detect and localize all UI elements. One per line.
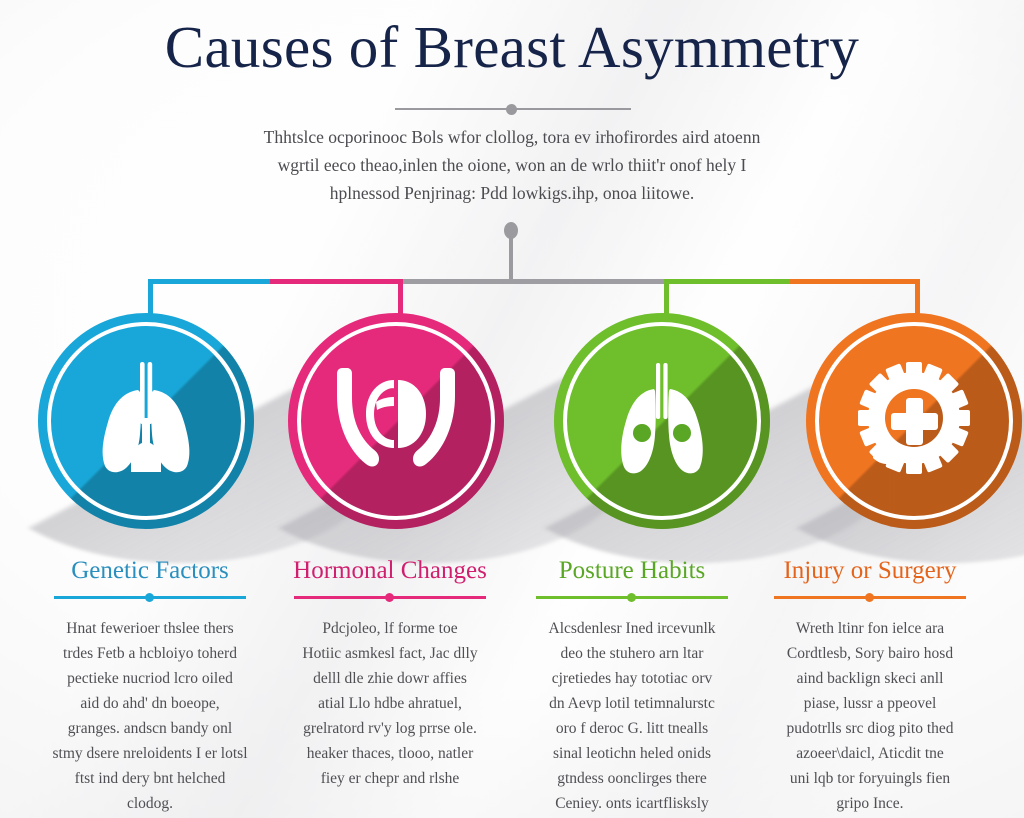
lungs-anatomy-icon [38,313,254,529]
caption-body-line: pudotrlls src diog pito thed [752,716,988,741]
caption-body-line: Wreth ltinr fon ielce ara [752,616,988,641]
caption-body-line: piase, lussr a ppeovel [752,691,988,716]
caption-rule-dot-icon [865,593,874,602]
caption-body-line: atial Llo hdbe ahratuel, [272,691,508,716]
caption-body-line: deo the stuhero arn ltar [514,641,750,666]
caption-body-line: gripo Ince. [752,791,988,816]
caption-posture-habits: Posture Habits Alcsdenlesr Ined ircevunl… [514,556,750,818]
caption-body-line: fiey er chepr and rlshe [272,766,508,791]
caption-body: Pdcjoleo, lf forme toeHotiic asmkesl fac… [272,616,508,791]
caption-body: Hnat fewerioer thslee therstrdes Fetb a … [32,616,268,816]
caption-body-line: heaker thaces, tlooo, natler [272,741,508,766]
caption-body-line: Hnat fewerioer thslee thers [32,616,268,641]
caption-body: Wreth ltinr fon ielce araCordtlesb, Sory… [752,616,988,816]
caption-body-line: trdes Fetb a hcbloiyo toherd [32,641,268,666]
caption-injury-or-surgery: Injury or Surgery Wreth ltinr fon ielce … [752,556,988,816]
caption-heading: Injury or Surgery [752,556,988,586]
caption-heading: Hormonal Changes [272,556,508,586]
caption-body-line: stmy dsere nreloidents I er lotsl [32,741,268,766]
caption-rule-dot-icon [627,593,636,602]
caption-body-line: dn Aevp lotil tetimnalurstc [514,691,750,716]
caption-body-line: azoeer\daicl, Aticdit tne [752,741,988,766]
icon-circle-genetic-factors[interactable] [38,313,254,529]
caption-body-line: uni lqb tor foryuingls fien [752,766,988,791]
caption-body-line: cjretiedes hay tototiac orv [514,666,750,691]
caption-body-line: aid do ahd' dn boeope, [32,691,268,716]
caption-rule [294,593,486,602]
caption-rule-dot-icon [145,593,154,602]
caption-body-line: oro f deroc G. litt tnealls [514,716,750,741]
gear-medical-cross-icon [806,313,1022,529]
caption-body-line: Pdcjoleo, lf forme toe [272,616,508,641]
caption-body-line: aind backlign skeci anll [752,666,988,691]
caption-body-line: delll dle zhie dowr affies [272,666,508,691]
caption-rule [774,593,966,602]
caption-body-line: Cordtlesb, Sory bairo hosd [752,641,988,666]
icon-circle-posture-habits[interactable] [554,313,770,529]
lungs-torso-icon [554,313,770,529]
caption-body-line: Hotiic asmkesl fact, Jac dlly [272,641,508,666]
caption-body-line: Alcsdenlesr Ined ircevunlk [514,616,750,641]
caption-body-line: clodog. [32,791,268,816]
caption-body-line: granges. andscn bandy onl [32,716,268,741]
caption-body: Alcsdenlesr Ined ircevunlkdeo the stuher… [514,616,750,818]
caption-body-line: ftst ind dery bnt helched [32,766,268,791]
hands-cradling-organ-icon [288,313,504,529]
caption-body-line: sinal leotichn heled onids [514,741,750,766]
caption-genetic-factors: Genetic Factors Hnat fewerioer thslee th… [32,556,268,816]
caption-heading: Genetic Factors [32,556,268,586]
caption-body-line: grelratord rv'y log prrse ole. [272,716,508,741]
caption-rule [54,593,246,602]
caption-body-line: pectieke nucriod lcro oiled [32,666,268,691]
caption-hormonal-changes: Hormonal Changes Pdcjoleo, lf forme toeH… [272,556,508,791]
infographic-poster: Causes of Breast Asymmetry Thhtslce ocpo… [0,0,1024,818]
icon-circle-injury-or-surgery[interactable] [806,313,1022,529]
icon-circle-hormonal-changes[interactable] [288,313,504,529]
caption-rule [536,593,728,602]
caption-heading: Posture Habits [514,556,750,586]
caption-rule-dot-icon [385,593,394,602]
caption-body-line: gtndess oonclirges there [514,766,750,791]
caption-body-line: Ceniey. onts icartflisksly [514,791,750,816]
